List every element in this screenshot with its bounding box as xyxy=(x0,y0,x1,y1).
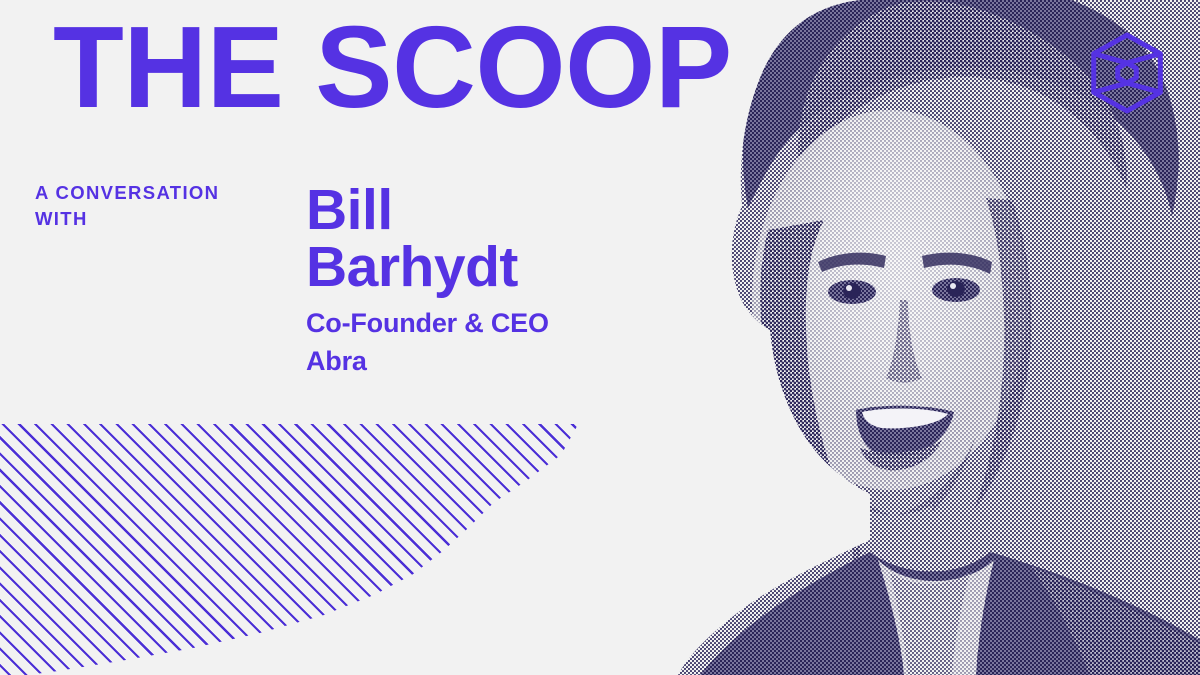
kicker-label: A CONVERSATION WITH xyxy=(35,180,285,233)
guest-first-name: Bill xyxy=(306,182,549,239)
episode-cover-canvas: THE SCOOP A CONVERSATION WITH Bill Barhy… xyxy=(0,0,1200,675)
page-title: THE SCOOP xyxy=(53,11,732,125)
the-block-cube-logo-icon xyxy=(1088,32,1166,114)
kicker-line-1: A CONVERSATION xyxy=(35,180,285,206)
guest-company: Abra xyxy=(306,345,549,377)
kicker-line-2: WITH xyxy=(35,206,285,232)
guest-name: Bill Barhydt xyxy=(306,182,549,296)
guest-role: Co-Founder & CEO xyxy=(306,306,549,340)
guest-info: Bill Barhydt Co-Founder & CEO Abra xyxy=(306,182,549,377)
guest-last-name: Barhydt xyxy=(306,239,549,296)
